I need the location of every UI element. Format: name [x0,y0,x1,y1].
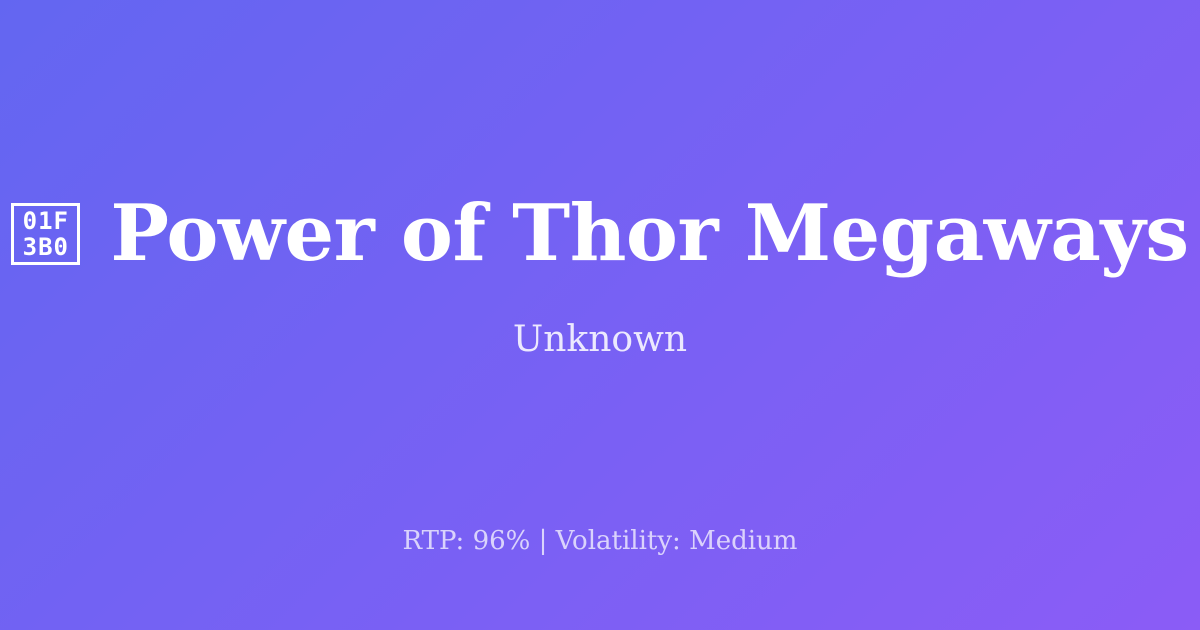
slot-machine-icon-hex-bottom: 3B0 [23,234,69,260]
page-title: Power of Thor Megaways [110,194,1188,274]
og-card: 01F 3B0 Power of Thor Megaways Unknown R… [0,0,1200,630]
game-stats-line: RTP: 96% | Volatility: Medium [403,527,798,556]
hero-block: 01F 3B0 Power of Thor Megaways Unknown [0,194,1200,359]
title-row: 01F 3B0 Power of Thor Megaways [40,194,1160,274]
provider-subtitle: Unknown [513,320,687,360]
footer-meta-bar: RTP: 96% | Volatility: Medium [0,527,1200,556]
slot-machine-icon-hex-top: 01F [23,208,69,234]
slot-machine-icon: 01F 3B0 [11,203,80,265]
